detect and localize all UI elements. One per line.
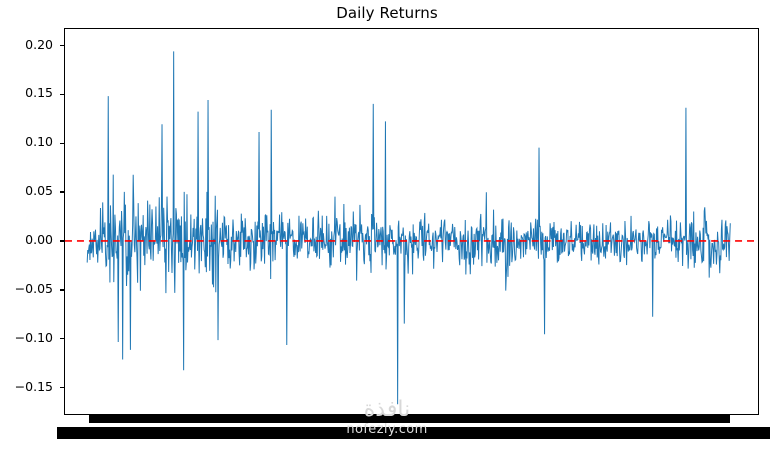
y-tick-label: 0.00 bbox=[25, 232, 53, 247]
y-tick-label: −0.10 bbox=[15, 330, 53, 345]
redaction-bar-upper bbox=[89, 415, 730, 423]
y-tick-label: 0.15 bbox=[25, 85, 53, 100]
daily-returns-line bbox=[87, 51, 730, 404]
y-tick-label: −0.15 bbox=[15, 379, 53, 394]
redaction-bar-lower bbox=[57, 427, 770, 439]
returns-series-svg bbox=[65, 29, 758, 414]
matplotlib-figure: Daily Returns 0.200.150.100.050.00−0.05−… bbox=[0, 0, 774, 451]
y-tick-label: −0.05 bbox=[15, 281, 53, 296]
y-tick-label: 0.05 bbox=[25, 183, 53, 198]
plot-area bbox=[64, 28, 759, 415]
y-tick-label: 0.20 bbox=[25, 37, 53, 52]
y-tick-label: 0.10 bbox=[25, 134, 53, 149]
page-title: Daily Returns bbox=[0, 4, 774, 22]
